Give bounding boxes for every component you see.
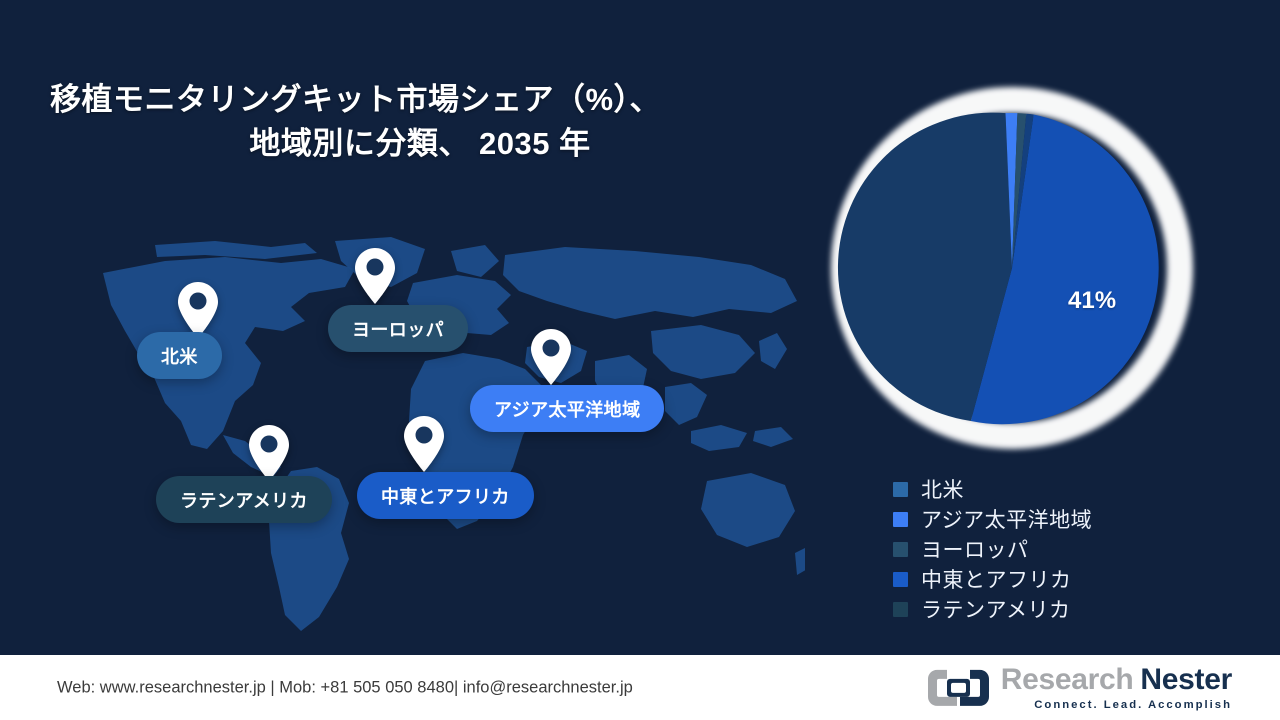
legend-item-asia-pacific[interactable]: アジア太平洋地域 <box>893 504 1223 534</box>
location-pin-icon <box>529 328 573 386</box>
legend-swatch-icon <box>893 512 908 527</box>
company-logo[interactable]: ResearchNester Connect. Lead. Accomplish <box>927 664 1232 710</box>
legend-label: アジア太平洋地域 <box>921 504 1092 534</box>
location-pin-icon <box>353 247 397 305</box>
location-pin-icon <box>176 281 220 339</box>
research-nester-mark-icon <box>927 667 990 707</box>
legend-swatch-icon <box>893 602 908 617</box>
map-label-europe[interactable]: ヨーロッパ <box>328 305 468 352</box>
map-label-asia-pacific[interactable]: アジア太平洋地域 <box>470 385 664 432</box>
footer-bar: Web: www.researchnester.jp | Mob: +81 50… <box>0 655 1280 720</box>
logo-top-line: ResearchNester <box>1001 664 1232 694</box>
logo-word-nester: Nester <box>1140 662 1232 695</box>
legend-swatch-icon <box>893 572 908 587</box>
legend-swatch-icon <box>893 542 908 557</box>
legend-label: 北米 <box>921 474 964 504</box>
page-title-line-1: 移植モニタリングキット市場シェア（%）、 <box>50 78 820 122</box>
legend-swatch-icon <box>893 482 908 497</box>
map-pin-latin-america[interactable] <box>247 424 291 482</box>
legend-label: 中東とアフリカ <box>921 564 1072 594</box>
legend-label: ヨーロッパ <box>921 534 1029 564</box>
map-label-text: ヨーロッパ <box>352 316 444 342</box>
logo-tagline: Connect. Lead. Accomplish <box>1001 699 1232 710</box>
map-pin-middle-east-africa[interactable] <box>402 415 446 473</box>
pie-chart: 41% <box>812 68 1212 468</box>
map-pin-europe[interactable] <box>353 247 397 305</box>
map-label-latin-america[interactable]: ラテンアメリカ <box>156 476 332 523</box>
world-map: 北米 ヨーロッパ アジア太平洋地域 <box>95 235 805 635</box>
map-pin-asia-pacific[interactable] <box>529 328 573 386</box>
page-title-line-2: 地域別に分類、 2035 年 <box>50 122 820 166</box>
legend-item-latin-america[interactable]: ラテンアメリカ <box>893 594 1223 624</box>
map-label-text: 中東とアフリカ <box>381 483 510 509</box>
legend-item-north-america[interactable]: 北米 <box>893 474 1223 504</box>
pie-chart-svg <box>812 68 1212 468</box>
map-label-text: ラテンアメリカ <box>180 487 308 513</box>
map-label-middle-east-africa[interactable]: 中東とアフリカ <box>357 472 534 519</box>
footer-contact-text: Web: www.researchnester.jp | Mob: +81 50… <box>57 678 633 697</box>
map-pin-north-america[interactable] <box>176 281 220 339</box>
slide-root: 移植モニタリングキット市場シェア（%）、 地域別に分類、 2035 年 <box>0 0 1280 720</box>
location-pin-icon <box>402 415 446 473</box>
pie-slice-value-label: 41% <box>1068 287 1116 315</box>
logo-word-research: Research <box>1001 662 1134 695</box>
map-label-text: アジア太平洋地域 <box>494 396 640 422</box>
legend-item-europe[interactable]: ヨーロッパ <box>893 534 1223 564</box>
map-label-text: 北米 <box>161 343 198 369</box>
map-label-north-america[interactable]: 北米 <box>137 332 222 379</box>
chart-legend: 北米 アジア太平洋地域 ヨーロッパ 中東とアフリカ ラテンアメリカ <box>893 474 1223 624</box>
legend-item-middle-east-africa[interactable]: 中東とアフリカ <box>893 564 1223 594</box>
page-title: 移植モニタリングキット市場シェア（%）、 地域別に分類、 2035 年 <box>50 78 820 166</box>
logo-wordmark: ResearchNester Connect. Lead. Accomplish <box>1001 664 1232 710</box>
location-pin-icon <box>247 424 291 482</box>
legend-label: ラテンアメリカ <box>921 594 1070 624</box>
